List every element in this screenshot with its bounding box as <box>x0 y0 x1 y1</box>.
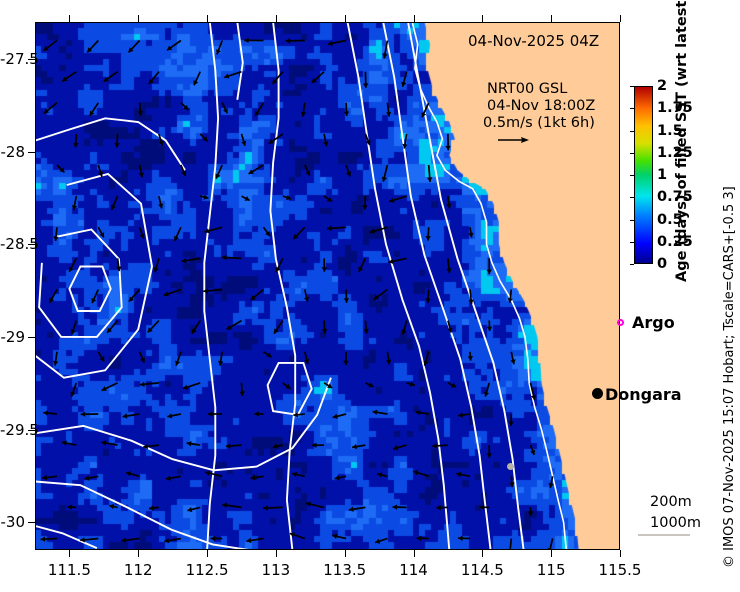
current-vector-arrow <box>333 414 346 419</box>
x-tick <box>620 550 621 557</box>
current-vector-arrow <box>363 72 368 88</box>
current-vector-arrow <box>44 41 58 51</box>
current-vector-arrow <box>85 475 99 480</box>
current-vector-arrow <box>382 165 388 182</box>
argo-float-position-marker-icon <box>507 463 514 470</box>
x-tick <box>414 550 415 557</box>
current-vector-arrow <box>401 72 406 87</box>
current-vector-arrow <box>227 321 242 330</box>
current-vector-arrow <box>508 414 513 426</box>
current-vector-arrow <box>364 321 369 334</box>
current-vector-arrow <box>427 165 432 182</box>
current-vector-arrow <box>497 135 529 145</box>
x-tick-label: 114.5 <box>461 561 504 579</box>
current-vector-arrow <box>393 505 407 510</box>
current-vector-arrow <box>218 352 223 366</box>
colorbar-tick <box>630 153 634 154</box>
current-vector-arrow <box>293 412 305 417</box>
x-tick-label: 113.5 <box>323 561 366 579</box>
current-vector-arrow <box>283 383 291 389</box>
y-tick-label: -29 <box>0 328 25 346</box>
colorbar-tick <box>630 220 634 221</box>
current-vector-arrow <box>373 410 388 415</box>
current-vector-arrow <box>389 258 407 264</box>
current-vector-arrow <box>458 412 470 417</box>
current-vector-arrow <box>322 321 327 334</box>
current-vector-arrow <box>468 352 473 361</box>
current-vector-arrow <box>175 352 181 366</box>
argo-legend-marker-icon <box>617 319 624 326</box>
current-vector-arrow <box>365 134 370 145</box>
current-source-label: NRT00 GSL <box>487 81 567 97</box>
current-vector-arrow <box>416 410 429 415</box>
current-vector-arrow <box>290 532 305 538</box>
current-vector-arrow <box>251 475 264 480</box>
current-vector-arrow <box>69 258 76 272</box>
current-vector-arrow <box>401 321 406 335</box>
current-vector-arrow <box>273 444 283 449</box>
colorbar-tick-label: 1 <box>657 167 667 183</box>
argo-legend-label: Argo <box>632 313 675 332</box>
current-vector-arrow <box>208 411 222 416</box>
y-tick-label: -27.5 <box>0 50 25 68</box>
current-vector-arrow <box>182 258 201 263</box>
colorbar-tick <box>630 108 634 109</box>
current-vector-arrow <box>81 412 99 417</box>
current-vector-arrow <box>53 352 58 366</box>
current-vector-arrow <box>62 441 76 446</box>
current-vector-arrow <box>241 134 246 146</box>
x-tick-top <box>345 15 346 22</box>
current-vector-arrow <box>166 476 181 481</box>
current-vector-arrow <box>183 383 200 390</box>
current-vector-arrow <box>283 195 291 200</box>
dongara-city-label: Dongara <box>605 385 682 404</box>
current-vector-arrow <box>200 134 207 141</box>
current-vector-arrow <box>107 321 118 333</box>
x-tick <box>482 550 483 557</box>
x-tick-label: 112 <box>124 561 153 579</box>
current-vector-arrow <box>306 502 324 508</box>
current-vector-arrow <box>436 505 448 510</box>
current-vector-arrow <box>101 440 117 445</box>
current-vector-arrow <box>91 290 98 304</box>
figure-root: 04-Nov-2025 04Z NRT00 GSL 04-Nov 18:00Z … <box>0 0 740 592</box>
current-vector-arrow <box>421 103 428 118</box>
depth-1000m-label: 1000m <box>650 515 701 531</box>
current-vector-arrow <box>426 227 431 240</box>
current-vector-arrow <box>98 227 104 237</box>
depth-1000m-line-sample <box>638 534 690 536</box>
current-vector-arrow <box>143 444 159 449</box>
current-vector-arrow <box>53 227 58 241</box>
current-vector-arrow <box>365 383 373 388</box>
x-tick <box>207 550 208 557</box>
current-vector-arrow <box>181 165 186 176</box>
current-vector-arrow <box>140 352 145 363</box>
current-vector-arrow <box>200 195 208 200</box>
current-vector-arrow <box>531 383 537 400</box>
current-vector-arrow <box>446 258 451 273</box>
current-vector-arrow <box>304 352 309 364</box>
current-vector-arrow <box>393 445 406 450</box>
current-vector-arrow <box>247 538 264 543</box>
current-vector-arrow <box>548 539 553 551</box>
current-vector-arrow <box>222 103 228 114</box>
current-vector-arrow <box>98 165 103 177</box>
current-vector-arrow <box>301 103 306 117</box>
current-vector-arrow <box>328 41 346 47</box>
current-vector-arrow <box>255 103 263 116</box>
current-vector-arrow <box>104 72 118 82</box>
x-tick-top <box>207 15 208 22</box>
current-vector-arrow <box>109 504 117 509</box>
current-vector-arrow <box>205 471 222 477</box>
current-vector-arrow <box>305 165 311 176</box>
current-vector-arrow <box>211 536 223 541</box>
x-tick-label: 111.5 <box>48 561 91 579</box>
current-vector-arrow <box>276 258 283 272</box>
current-vector-arrow <box>242 196 250 201</box>
current-vector-arrow <box>362 196 367 210</box>
current-vector-arrow <box>508 290 513 303</box>
current-vector-arrow <box>154 258 159 272</box>
current-vector-arrow <box>386 352 391 365</box>
current-vector-arrow <box>187 507 200 512</box>
current-vector-arrow <box>382 41 387 59</box>
current-vector-arrow <box>269 134 283 144</box>
current-vector-arrow <box>129 290 140 302</box>
x-tick-top <box>276 15 277 22</box>
y-tick <box>28 152 35 153</box>
current-vector-arrow <box>480 505 490 510</box>
current-vector-arrow <box>149 72 159 84</box>
current-vector-arrow <box>87 41 98 53</box>
y-tick-label: -29.5 <box>0 421 25 439</box>
current-vector-arrow <box>413 470 428 476</box>
x-tick-top <box>482 15 483 22</box>
current-vector-arrow <box>370 227 388 234</box>
current-vector-arrow <box>43 410 57 415</box>
current-vector-arrow <box>458 536 470 541</box>
x-tick <box>138 550 139 557</box>
current-vector-arrow <box>349 507 366 512</box>
x-tick-label: 115.5 <box>599 561 642 579</box>
y-tick-label: -28 <box>0 143 25 161</box>
dongara-city-marker-icon <box>592 388 603 399</box>
current-vector-arrow <box>121 538 139 543</box>
current-vector-arrow <box>222 255 242 260</box>
x-tick <box>345 550 346 557</box>
current-vector-arrow <box>226 443 242 448</box>
current-vector-arrow <box>324 383 332 388</box>
current-vector-arrow <box>423 352 428 366</box>
colorbar-tick <box>630 197 634 198</box>
current-vector-arrow <box>469 290 474 305</box>
x-tick <box>276 550 277 557</box>
current-vector-arrow <box>140 382 159 387</box>
current-vector-arrow <box>139 165 144 177</box>
current-vector-arrow <box>332 534 346 539</box>
current-vector-arrow <box>159 134 164 146</box>
current-vector-arrow <box>292 472 305 477</box>
y-tick <box>28 522 35 523</box>
current-vector-arrow <box>203 288 222 293</box>
x-tick-label: 112.5 <box>186 561 229 579</box>
current-vector-arrow <box>254 411 263 416</box>
current-vector-arrow <box>140 227 145 238</box>
current-vector-arrow <box>249 165 264 174</box>
colorbar-tick <box>630 242 634 243</box>
current-vector-arrow <box>344 103 349 116</box>
current-vector-arrow <box>57 165 64 172</box>
current-vector-arrow <box>263 505 283 510</box>
current-vector-arrow <box>352 444 365 449</box>
current-vector-arrow <box>327 226 346 231</box>
current-vector-arrow <box>335 475 347 480</box>
current-vector-arrow <box>44 103 57 114</box>
depth-200m-label: 200m <box>650 494 692 510</box>
current-vector-arrow <box>116 258 121 271</box>
x-tick <box>69 550 70 557</box>
x-tick-top <box>414 15 415 22</box>
current-vector-arrow <box>98 352 104 362</box>
current-vector-arrow <box>123 413 140 418</box>
current-vector-arrow <box>528 507 533 516</box>
current-vector-arrow <box>358 258 365 272</box>
current-vector-arrow <box>193 72 200 86</box>
current-vector-arrow <box>484 383 489 397</box>
x-tick-top <box>551 15 552 22</box>
credit-text: © IMOS 07-Nov-2025 15:07 Hobart; Tscale=… <box>722 168 737 568</box>
colorbar-tick <box>630 264 634 265</box>
current-vector-arrow <box>181 103 189 110</box>
current-vector-arrow <box>374 290 388 300</box>
current-vector-arrow <box>509 476 514 487</box>
current-vector-arrow <box>377 472 387 477</box>
current-vector-arrow <box>445 134 450 151</box>
x-tick-label: 114 <box>399 561 428 579</box>
current-vector-arrow <box>73 134 78 148</box>
current-vector-arrow <box>224 72 241 79</box>
x-tick-top <box>620 15 621 22</box>
current-vector-arrow <box>158 196 163 208</box>
current-vector-arrow <box>62 72 76 82</box>
current-vector-arrow <box>71 321 77 335</box>
current-vector-arrow <box>70 383 76 397</box>
y-tick <box>28 337 35 338</box>
current-vector-arrow <box>447 321 452 333</box>
current-vector-arrow <box>344 290 349 303</box>
x-tick-label: 113 <box>262 561 291 579</box>
current-vector-arrow <box>49 290 57 303</box>
colorbar-tick <box>630 131 634 132</box>
colorbar-tick-label: 2 <box>657 78 667 94</box>
current-vector-arrow <box>417 536 429 541</box>
current-vector-arrow <box>148 321 159 333</box>
y-tick-label: -28.5 <box>0 235 25 253</box>
current-vector-arrow <box>549 476 554 488</box>
current-vector-arrow <box>68 504 77 509</box>
current-vector-arrow <box>167 413 181 418</box>
current-vector-arrow <box>102 383 118 391</box>
x-tick-label: 115 <box>537 561 566 579</box>
current-vector-arrow <box>323 134 328 146</box>
current-vector-arrow <box>456 472 470 477</box>
current-vector-arrow <box>111 196 118 210</box>
colorbar-title: Age (days) of filled SST (wrt latest) <box>674 22 690 282</box>
current-vector-arrow <box>264 352 272 357</box>
current-vector-arrow <box>487 321 492 332</box>
current-vector-arrow <box>346 165 351 177</box>
current-vector-arrow <box>205 227 223 233</box>
current-vector-arrow <box>129 41 140 53</box>
current-vector-arrow <box>312 72 324 83</box>
colorbar-tick <box>630 175 634 176</box>
x-tick-top <box>138 15 139 22</box>
current-vector-arrow <box>294 227 305 239</box>
current-vector-arrow <box>164 538 181 543</box>
current-vector-arrow <box>114 134 119 148</box>
current-vector-arrow <box>90 103 99 116</box>
current-vector-arrow <box>239 383 244 396</box>
current-vector-arrow <box>487 445 492 458</box>
current-vector-arrow <box>324 196 332 202</box>
current-vector-arrow <box>510 352 515 365</box>
current-time-label: 04-Nov 18:00Z <box>487 98 595 114</box>
current-vector-arrow <box>216 41 222 55</box>
colorbar-tick <box>630 86 634 87</box>
current-vector-arrow <box>187 441 201 446</box>
current-vector-arrow <box>174 227 181 241</box>
current-vector-arrow <box>264 227 271 236</box>
current-vector-arrow <box>304 290 309 302</box>
current-vector-arrow <box>192 321 200 334</box>
colorbar-tick-label: 0 <box>657 256 667 272</box>
current-vector-arrow <box>468 227 473 237</box>
current-vector-arrow <box>286 38 305 43</box>
current-vector-arrow <box>389 196 406 203</box>
current-vector-arrow <box>41 537 57 542</box>
current-vector-arrow <box>42 475 57 480</box>
current-vector-arrow <box>322 258 327 271</box>
current-vector-arrow <box>448 383 456 388</box>
current-vector-arrow <box>149 505 159 510</box>
current-vector-arrow <box>487 258 492 274</box>
current-vector-arrow <box>312 443 324 448</box>
current-vector-arrow <box>507 539 512 551</box>
current-vector-arrow <box>375 539 387 544</box>
current-vector-arrow <box>274 321 283 334</box>
date-stamp: 04-Nov-2025 04Z <box>468 32 599 50</box>
current-vector-arrow <box>402 134 407 149</box>
current-vector-arrow <box>432 443 448 448</box>
current-vector-arrow <box>425 290 430 304</box>
current-vector-arrow <box>530 445 535 455</box>
colorbar-gradient <box>634 86 653 264</box>
current-vector-arrow <box>446 196 451 208</box>
current-vector-arrow <box>386 103 391 117</box>
current-vector-arrow <box>164 290 181 297</box>
current-vector-arrow <box>126 471 140 476</box>
x-tick-top <box>69 15 70 22</box>
current-vector-arrow <box>407 381 415 386</box>
y-tick-label: -30 <box>0 513 25 531</box>
current-vector-arrow <box>222 503 241 508</box>
current-vector-arrow <box>251 290 264 301</box>
current-vector-arrow <box>167 41 181 51</box>
current-vector-arrow <box>343 352 348 365</box>
x-tick <box>551 550 552 557</box>
current-scale-label: 0.5m/s (1kt 6h) <box>483 115 595 131</box>
current-vector-arrow <box>244 38 263 43</box>
current-vector-arrow <box>72 196 77 210</box>
current-vector-arrow <box>273 72 283 84</box>
current-vector-arrow <box>215 165 222 179</box>
current-vector-arrow <box>138 103 143 116</box>
current-vector-arrow <box>80 537 98 542</box>
